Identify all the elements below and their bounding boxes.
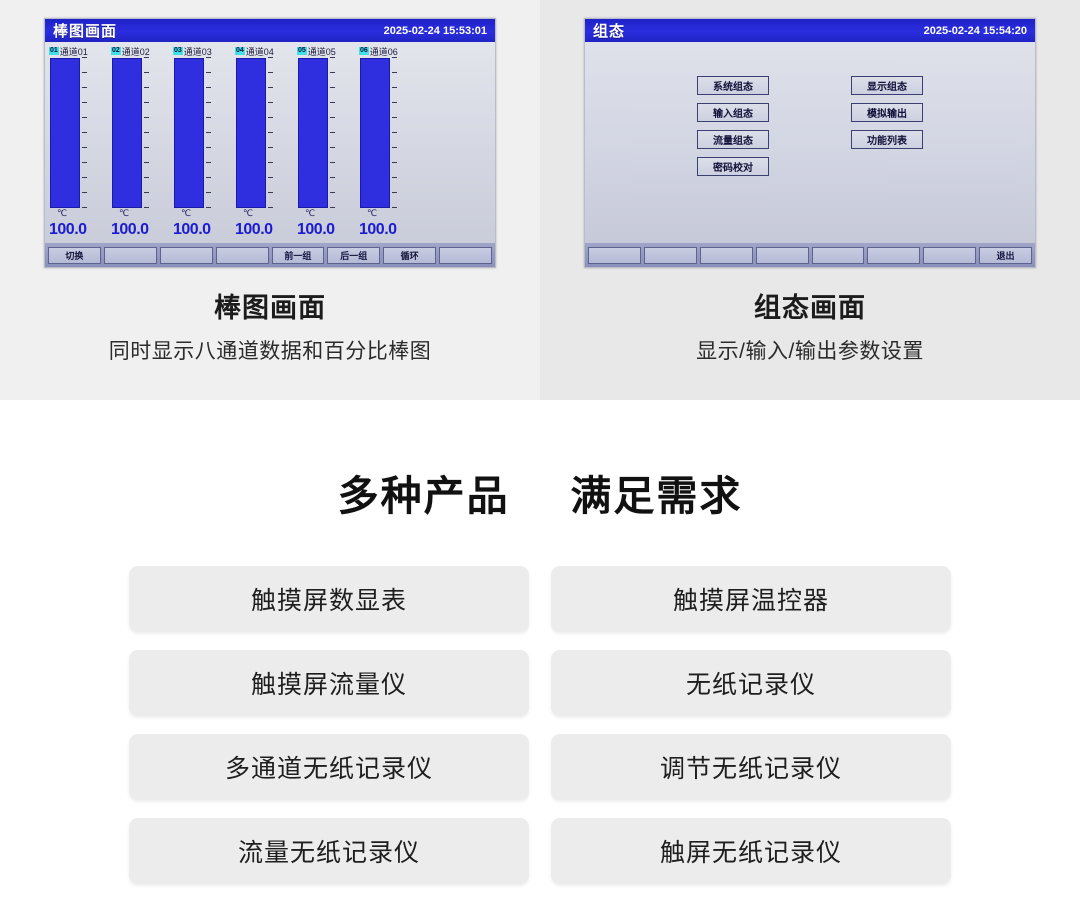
- function-key-switch[interactable]: 切换: [48, 247, 101, 264]
- scale-tick: [268, 102, 273, 103]
- config-caption-subtitle: 显示/输入/输出参数设置: [696, 335, 924, 365]
- scale-tick: [144, 87, 149, 88]
- panel-configuration: 组态 2025-02-24 15:54:20 系统组态 输入组态 流量组态 密码…: [540, 0, 1080, 400]
- scale-tick: [330, 192, 335, 193]
- channel-header-row: 01 通道01 02 通道02 03 通道03 04 通道04: [45, 45, 495, 57]
- scale-tick: [330, 162, 335, 163]
- channel-header: 06 通道06: [359, 45, 421, 58]
- scale-tick: [392, 192, 397, 193]
- channel-value: 100.0: [109, 221, 171, 241]
- scale-tick: [206, 192, 211, 193]
- scale-tick: [206, 87, 211, 88]
- function-key-blank-2[interactable]: [160, 247, 213, 264]
- scale-tick: [268, 162, 273, 163]
- scale-tick: [330, 102, 335, 103]
- channel-number-badge: 03: [173, 47, 183, 55]
- config-menu-grid: 系统组态 输入组态 流量组态 密码校对 显示组态 模拟输出 功能列表: [585, 76, 1035, 176]
- function-key-blank-1[interactable]: [588, 247, 641, 264]
- bar-graph-body: 01 通道01 02 通道02 03 通道03 04 通道04: [45, 42, 495, 245]
- scale-tick: [82, 147, 87, 148]
- scale-tick: [330, 147, 335, 148]
- panel-bar-graph: 棒图画面 2025-02-24 15:53:01 01 通道01 02 通道02…: [0, 0, 540, 400]
- channel-value: 100.0: [171, 221, 233, 241]
- scale-tick: [82, 87, 87, 88]
- bar-scale: [330, 58, 337, 208]
- scale-tick: [206, 162, 211, 163]
- channel-unit: ℃: [359, 208, 421, 221]
- scale-tick: [268, 147, 273, 148]
- bar-graph-title-bar: 棒图画面 2025-02-24 15:53:01: [45, 19, 495, 42]
- product-list: 触摸屏数显表 触摸屏流量仪 多通道无纸记录仪 流量无纸记录仪 触摸屏温控器 无纸…: [0, 566, 1080, 884]
- bar-scale: [268, 58, 275, 208]
- product-item-touch-temp-controller[interactable]: 触摸屏温控器: [551, 566, 951, 632]
- product-item-paperless-recorder[interactable]: 无纸记录仪: [551, 650, 951, 716]
- function-key-blank-5[interactable]: [812, 247, 865, 264]
- channel-name: 通道05: [308, 45, 336, 58]
- scale-tick: [268, 132, 273, 133]
- channel-unit: ℃: [49, 208, 111, 221]
- bar: [298, 58, 328, 208]
- bar-graph-timestamp: 2025-02-24 15:53:01: [384, 25, 487, 37]
- scale-tick: [82, 192, 87, 193]
- channel-header: 03 通道03: [173, 45, 235, 58]
- channel-name: 通道01: [60, 45, 88, 58]
- function-key-blank-6[interactable]: [867, 247, 920, 264]
- bar-graph-title: 棒图画面: [53, 20, 117, 41]
- function-key-blank-3[interactable]: [216, 247, 269, 264]
- bar-scale: [144, 58, 151, 208]
- scale-tick: [206, 102, 211, 103]
- bar: [174, 58, 204, 208]
- scale-tick: [82, 132, 87, 133]
- product-item-touch-flow-meter[interactable]: 触摸屏流量仪: [129, 650, 529, 716]
- product-item-control-recorder[interactable]: 调节无纸记录仪: [551, 734, 951, 800]
- device-screen-configuration: 组态 2025-02-24 15:54:20 系统组态 输入组态 流量组态 密码…: [584, 18, 1036, 268]
- config-menu-column-left: 系统组态 输入组态 流量组态 密码校对: [697, 76, 769, 176]
- scale-tick: [144, 57, 149, 58]
- scale-tick: [82, 207, 87, 208]
- scale-tick: [144, 162, 149, 163]
- function-key-blank-1[interactable]: [104, 247, 157, 264]
- channel-value: 100.0: [295, 221, 357, 241]
- product-item-touchscreen-recorder[interactable]: 触屏无纸记录仪: [551, 818, 951, 884]
- bar-slot: [235, 58, 297, 208]
- channel-name: 通道02: [122, 45, 150, 58]
- config-timestamp: 2025-02-24 15:54:20: [924, 25, 1027, 37]
- config-button-input[interactable]: 输入组态: [697, 103, 769, 122]
- function-key-blank-4[interactable]: [439, 247, 492, 264]
- scale-tick: [330, 207, 335, 208]
- channel-header: 04 通道04: [235, 45, 297, 58]
- channel-unit: ℃: [297, 208, 359, 221]
- scale-tick: [268, 117, 273, 118]
- scale-tick: [144, 147, 149, 148]
- channel-number-badge: 05: [297, 47, 307, 55]
- scale-tick: [392, 177, 397, 178]
- scale-tick: [206, 57, 211, 58]
- function-key-exit[interactable]: 退出: [979, 247, 1032, 264]
- scale-tick: [206, 72, 211, 73]
- scale-tick: [206, 147, 211, 148]
- bar-slot: [49, 58, 111, 208]
- channel-unit: ℃: [235, 208, 297, 221]
- device-screen-bar-graph: 棒图画面 2025-02-24 15:53:01 01 通道01 02 通道02…: [44, 18, 496, 268]
- bar-scale: [392, 58, 399, 208]
- scale-tick: [82, 57, 87, 58]
- config-caption-title: 组态画面: [754, 286, 866, 325]
- bar-slot: [359, 58, 421, 208]
- bar-slot: [297, 58, 359, 208]
- function-key-prev-group[interactable]: 前一组: [272, 247, 325, 264]
- device-screens-section: 棒图画面 2025-02-24 15:53:01 01 通道01 02 通道02…: [0, 0, 1080, 400]
- scale-tick: [144, 207, 149, 208]
- channel-number-badge: 04: [235, 47, 245, 55]
- scale-tick: [268, 207, 273, 208]
- config-title: 组态: [593, 20, 625, 41]
- scale-tick: [392, 57, 397, 58]
- channel-unit: ℃: [173, 208, 235, 221]
- config-body: 系统组态 输入组态 流量组态 密码校对 显示组态 模拟输出 功能列表: [585, 42, 1035, 245]
- bar-slot: [173, 58, 235, 208]
- config-button-system[interactable]: 系统组态: [697, 76, 769, 95]
- function-key-blank-4[interactable]: [756, 247, 809, 264]
- bar-graph-function-key-bar: 切换 前一组 后一组 循环: [45, 243, 495, 267]
- bar-graph-caption-title: 棒图画面: [214, 286, 326, 325]
- bar: [112, 58, 142, 208]
- bar-scale: [206, 58, 213, 208]
- channel-name: 通道04: [246, 45, 274, 58]
- channel-unit: ℃: [111, 208, 173, 221]
- scale-tick: [82, 117, 87, 118]
- bar: [360, 58, 390, 208]
- scale-tick: [206, 132, 211, 133]
- scale-tick: [144, 117, 149, 118]
- config-button-analog-output[interactable]: 模拟输出: [851, 103, 923, 122]
- scale-tick: [392, 102, 397, 103]
- scale-tick: [82, 102, 87, 103]
- scale-tick: [330, 117, 335, 118]
- bar-graph-caption-subtitle: 同时显示八通道数据和百分比棒图: [109, 335, 432, 365]
- product-item-multichannel-recorder[interactable]: 多通道无纸记录仪: [129, 734, 529, 800]
- channel-name: 通道06: [370, 45, 398, 58]
- scale-tick: [330, 87, 335, 88]
- config-button-password[interactable]: 密码校对: [697, 157, 769, 176]
- product-item-flow-recorder[interactable]: 流量无纸记录仪: [129, 818, 529, 884]
- value-row: 100.0 100.0 100.0 100.0 100.0 100.0: [45, 221, 495, 241]
- scale-tick: [268, 57, 273, 58]
- function-key-blank-3[interactable]: [700, 247, 753, 264]
- channel-value: 100.0: [357, 221, 419, 241]
- scale-tick: [82, 72, 87, 73]
- scale-tick: [144, 72, 149, 73]
- channel-value: 100.0: [47, 221, 109, 241]
- bar-slot: [111, 58, 173, 208]
- scale-tick: [330, 72, 335, 73]
- scale-tick: [82, 162, 87, 163]
- scale-tick: [392, 72, 397, 73]
- channel-number-badge: 02: [111, 47, 121, 55]
- scale-tick: [144, 177, 149, 178]
- scale-tick: [268, 177, 273, 178]
- scale-tick: [268, 87, 273, 88]
- scale-tick: [268, 192, 273, 193]
- channel-name: 通道03: [184, 45, 212, 58]
- function-key-blank-2[interactable]: [644, 247, 697, 264]
- scale-tick: [330, 132, 335, 133]
- channel-number-badge: 01: [49, 47, 59, 55]
- product-column-right: 触摸屏温控器 无纸记录仪 调节无纸记录仪 触屏无纸记录仪: [551, 566, 951, 884]
- scale-tick: [144, 192, 149, 193]
- function-key-blank-7[interactable]: [923, 247, 976, 264]
- scale-tick: [392, 207, 397, 208]
- function-key-cycle[interactable]: 循环: [383, 247, 436, 264]
- unit-row: ℃ ℃ ℃ ℃ ℃ ℃: [45, 208, 495, 221]
- config-menu-column-right: 显示组态 模拟输出 功能列表: [851, 76, 923, 176]
- config-button-function-list[interactable]: 功能列表: [851, 130, 923, 149]
- scale-tick: [330, 177, 335, 178]
- scale-tick: [144, 132, 149, 133]
- channel-header: 02 通道02: [111, 45, 173, 58]
- bar-scale: [82, 58, 89, 208]
- scale-tick: [268, 72, 273, 73]
- config-title-bar: 组态 2025-02-24 15:54:20: [585, 19, 1035, 42]
- config-button-display[interactable]: 显示组态: [851, 76, 923, 95]
- scale-tick: [392, 87, 397, 88]
- scale-tick: [392, 132, 397, 133]
- scale-tick: [392, 147, 397, 148]
- channel-number-badge: 06: [359, 47, 369, 55]
- scale-tick: [392, 117, 397, 118]
- product-column-left: 触摸屏数显表 触摸屏流量仪 多通道无纸记录仪 流量无纸记录仪: [129, 566, 529, 884]
- bar: [236, 58, 266, 208]
- channel-header: 05 通道05: [297, 45, 359, 58]
- bar-chart-plot: [45, 58, 495, 208]
- section-headline: 多种产品 满足需求: [0, 462, 1080, 522]
- bar: [50, 58, 80, 208]
- scale-tick: [392, 162, 397, 163]
- config-function-key-bar: 退出: [585, 243, 1035, 267]
- scale-tick: [206, 207, 211, 208]
- scale-tick: [206, 117, 211, 118]
- headline-part-1: 多种产品: [338, 473, 510, 519]
- product-item-touch-digital-meter[interactable]: 触摸屏数显表: [129, 566, 529, 632]
- scale-tick: [206, 177, 211, 178]
- scale-tick: [330, 57, 335, 58]
- function-key-next-group[interactable]: 后一组: [327, 247, 380, 264]
- headline-part-2: 满足需求: [570, 473, 742, 519]
- config-button-flow[interactable]: 流量组态: [697, 130, 769, 149]
- scale-tick: [144, 102, 149, 103]
- scale-tick: [82, 177, 87, 178]
- channel-value: 100.0: [233, 221, 295, 241]
- channel-header: 01 通道01: [49, 45, 111, 58]
